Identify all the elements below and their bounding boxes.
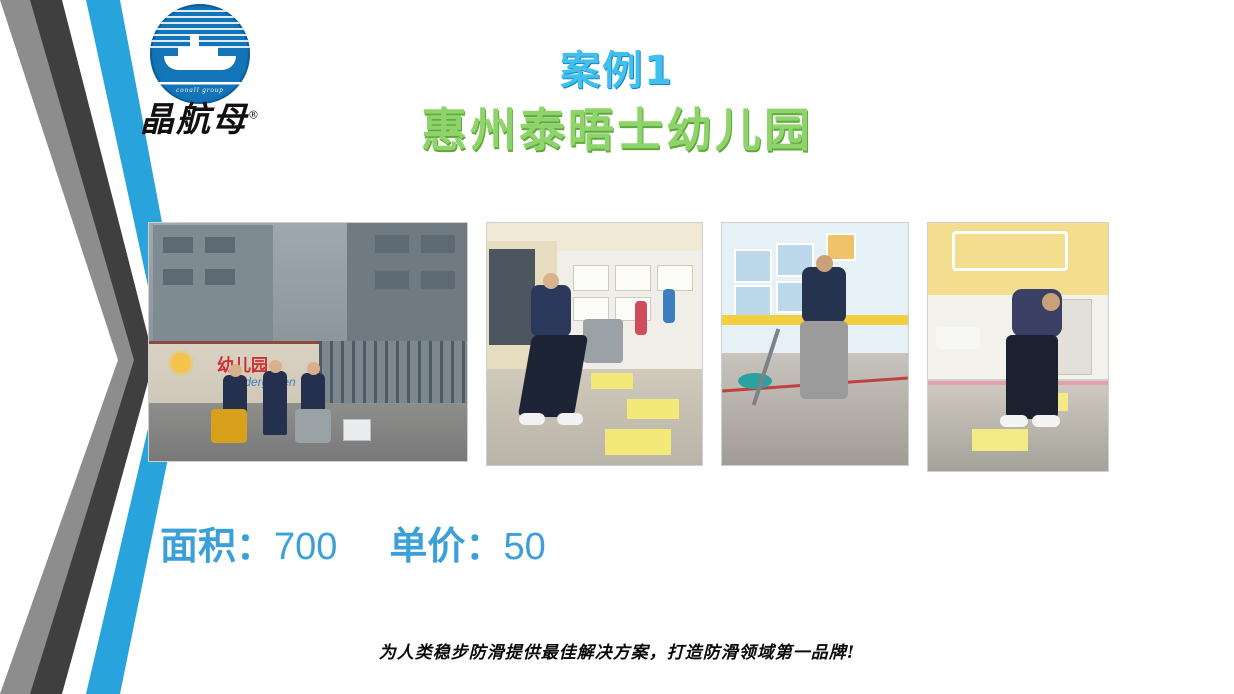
- photo-bathroom: [927, 222, 1109, 472]
- stat-unit-price: 单价：50: [389, 515, 545, 570]
- stat-unit-price-label: 单价：: [389, 523, 503, 568]
- photo-school-gate: 幼儿园 kindergarten: [148, 222, 468, 462]
- photo-strip: 幼儿园 kindergarten: [148, 222, 1109, 472]
- stat-unit-price-value: 50: [503, 526, 545, 568]
- slide-title-case: 案例1: [0, 38, 1234, 96]
- slide-title-name: 惠州泰晤士幼儿园: [0, 94, 1234, 160]
- project-stats: 面积：700 单价：50: [160, 515, 546, 570]
- stat-area-value: 700: [274, 526, 337, 568]
- photo-classroom: [721, 222, 909, 466]
- slide-footer-slogan: 为人类稳步防滑提供最佳解决方案，打造防滑领域第一品牌!: [0, 638, 1234, 663]
- stat-area-label: 面积：: [160, 523, 274, 568]
- stat-area: 面积：700: [160, 515, 337, 570]
- photo-corridor: [486, 222, 703, 466]
